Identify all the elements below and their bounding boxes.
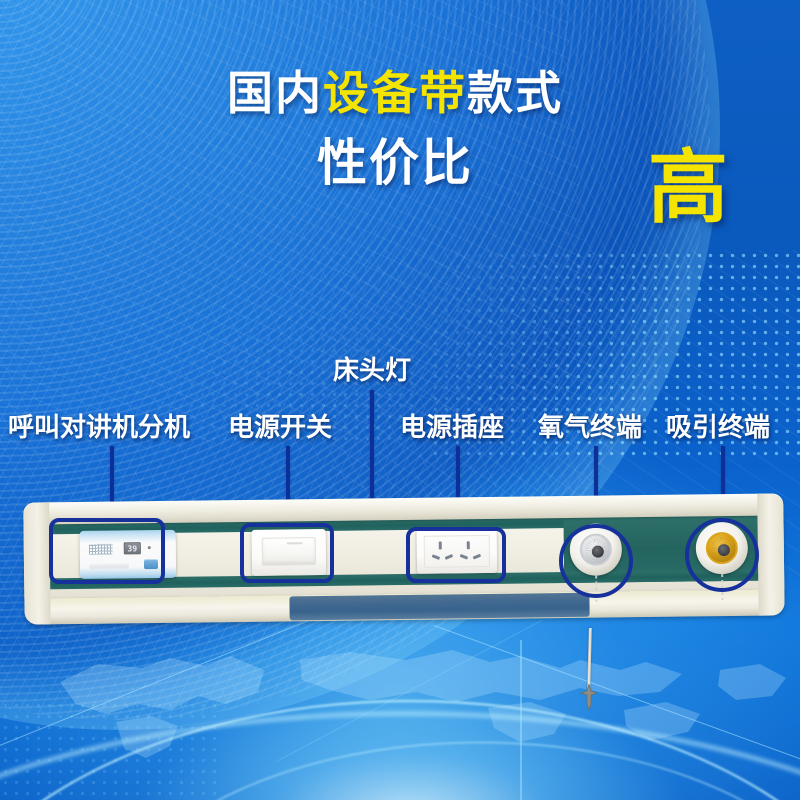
power-socket-plate[interactable] (417, 529, 498, 574)
oxygen-terminal-outlet[interactable] (570, 523, 623, 576)
power-switch-plate[interactable] (252, 529, 327, 576)
status-led-icon (148, 546, 151, 549)
headline-seg-yellow: 设备带 (323, 66, 467, 120)
socket-face (424, 535, 490, 568)
medical-bed-head-unit: 39 (23, 493, 785, 634)
vertical-streak (520, 640, 522, 800)
rocker-nick (287, 542, 303, 544)
socket-pin-hole (460, 554, 469, 560)
callout-label-suction-outlet: 吸引终端 (666, 415, 770, 441)
intercom-display: 39 (124, 542, 141, 554)
panel-end-cap-left (23, 502, 50, 624)
headline-subtitle: 性价比 (317, 134, 473, 192)
callout-label-intercom: 呼叫对讲机分机 (8, 415, 190, 441)
panel-end-cap-right (757, 493, 784, 615)
callout-label-power-switch: 电源开关 (228, 415, 332, 441)
speaker-grille-icon (89, 544, 113, 555)
headline-emphasis-gao: 高 (648, 148, 728, 228)
intercom-call-button[interactable] (144, 559, 158, 569)
oxygen-outlet-face (580, 533, 612, 565)
pull-cord-weight-icon (580, 684, 598, 710)
panel-seam-oxygen (595, 576, 597, 602)
callout-label-bed-lamp: 床头灯 (333, 358, 411, 384)
poster-canvas: 国内设备带款式 性价比 高 呼叫对讲机分机 电源开关 床头灯 电源插座 氧气终端… (0, 0, 800, 800)
callout-label-oxygen-outlet: 氧气终端 (538, 415, 642, 441)
suction-outlet-face (706, 532, 738, 564)
suction-terminal-outlet[interactable] (696, 522, 749, 575)
panel-rail-blue-section (289, 593, 589, 621)
rocker-switch[interactable] (262, 537, 316, 566)
socket-pin-hole (467, 541, 470, 549)
callout-label-power-socket: 电源插座 (400, 415, 504, 441)
intercom-light-strip (89, 563, 129, 568)
suction-outlet-port (718, 544, 730, 556)
socket-pin-hole (445, 554, 454, 560)
headline-seg-white-a: 国内 (227, 66, 323, 120)
socket-pin-hole (432, 554, 441, 560)
nurse-call-intercom-unit[interactable]: 39 (80, 530, 177, 579)
headline-seg-white-b: 款式 (467, 66, 563, 120)
socket-pin-hole (439, 542, 442, 550)
headline-line-1: 国内设备带款式 (0, 70, 800, 116)
socket-pin-hole (473, 554, 482, 560)
oxygen-outlet-port (592, 546, 604, 558)
panel-seam-suction (721, 574, 723, 600)
